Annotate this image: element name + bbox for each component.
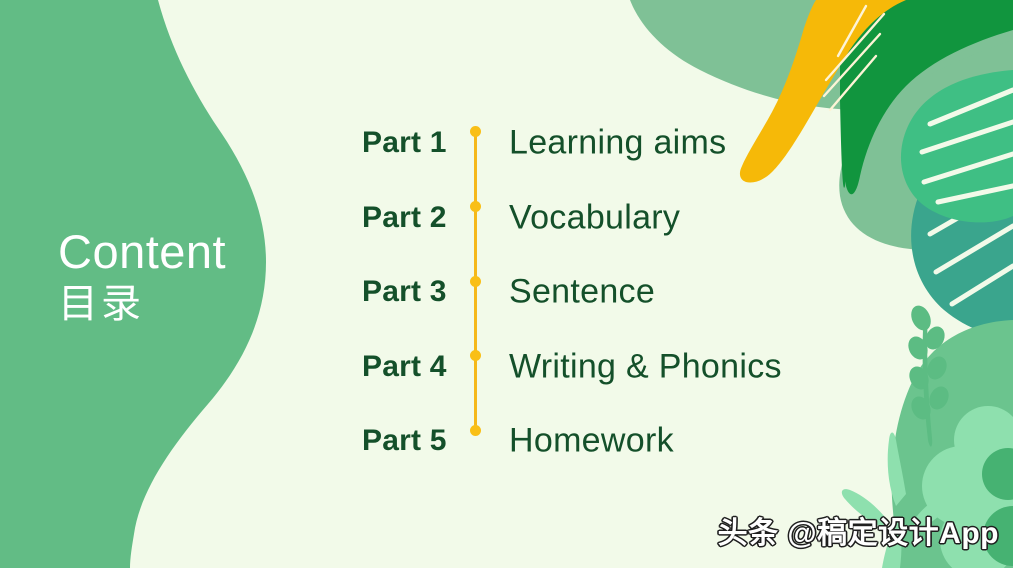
presentation-slide: Content 目录 Part 1 Learning aims Part 2 V… <box>0 0 1013 568</box>
timeline-dot-3 <box>470 276 481 287</box>
toc-part-label-5: Homework <box>509 422 674 461</box>
timeline-dot-1 <box>470 126 481 137</box>
toc-part-number-3: Part 3 <box>362 275 447 309</box>
timeline-dot-2 <box>470 201 481 212</box>
toc-part-label-2: Vocabulary <box>509 198 680 237</box>
toc-row-3[interactable]: Part 3 Sentence <box>362 255 832 330</box>
heading-english: Content <box>58 228 226 275</box>
timeline-dot-5 <box>470 425 481 436</box>
toc-part-number-4: Part 4 <box>362 350 447 384</box>
toc-part-number-1: Part 1 <box>362 126 447 160</box>
toc-row-2[interactable]: Part 2 Vocabulary <box>362 181 832 256</box>
toc-row-1[interactable]: Part 1 Learning aims <box>362 106 832 181</box>
table-of-contents: Part 1 Learning aims Part 2 Vocabulary P… <box>362 106 832 479</box>
toc-row-4[interactable]: Part 4 Writing & Phonics <box>362 330 832 405</box>
toc-part-label-3: Sentence <box>509 273 655 312</box>
heading-chinese: 目录 <box>58 284 226 324</box>
slide-heading: Content 目录 <box>58 228 226 324</box>
timeline-dot-4 <box>470 350 481 361</box>
watermark-text: 头条 @稿定设计App <box>718 508 999 552</box>
toc-part-number-2: Part 2 <box>362 201 447 235</box>
toc-part-label-4: Writing & Phonics <box>509 347 782 386</box>
toc-part-label-1: Learning aims <box>509 124 726 163</box>
toc-part-number-5: Part 5 <box>362 424 447 458</box>
toc-row-5[interactable]: Part 5 Homework <box>362 404 832 479</box>
